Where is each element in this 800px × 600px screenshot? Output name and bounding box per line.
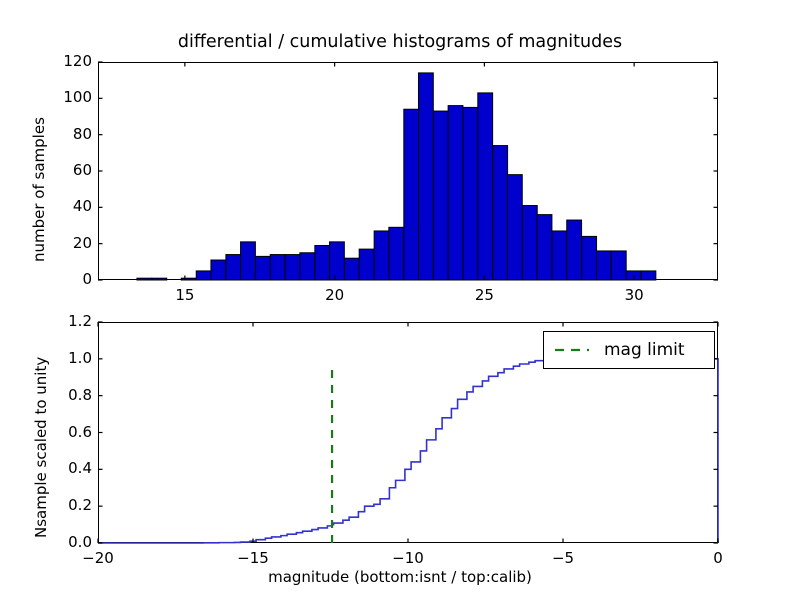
bottom-ytick-label: 1.0 — [32, 349, 92, 367]
top-ytick-label: 120 — [32, 52, 92, 70]
bottom-ytick-label: 0.6 — [32, 423, 92, 441]
bottom-ytick-label: 0.2 — [32, 496, 92, 514]
bottom-xtick-label: 0 — [693, 549, 743, 567]
legend-label-mag-limit: mag limit — [604, 340, 685, 360]
top-ytick-label: 20 — [32, 234, 92, 252]
legend-dashed-line-icon — [554, 344, 590, 356]
bottom-ytick-label: 0.0 — [32, 533, 92, 551]
top-xtick-label: 15 — [160, 286, 210, 304]
top-xtick-label: 30 — [609, 286, 659, 304]
bottom-ytick-label: 1.2 — [32, 312, 92, 330]
top-ytick-label: 100 — [32, 88, 92, 106]
cumulative-step-line — [98, 359, 718, 543]
bottom-xtick-label: −20 — [73, 549, 123, 567]
bottom-cumulative-plot — [0, 0, 800, 600]
top-ytick-label: 60 — [32, 161, 92, 179]
legend-box[interactable]: mag limit — [543, 331, 715, 369]
bottom-ytick-label: 0.4 — [32, 459, 92, 477]
top-ytick-label: 80 — [32, 125, 92, 143]
figure-canvas: differential / cumulative histograms of … — [0, 0, 800, 600]
bottom-xtick-label: −10 — [383, 549, 433, 567]
top-ytick-label: 40 — [32, 197, 92, 215]
bottom-xtick-label: −5 — [538, 549, 588, 567]
bottom-xtick-label: −15 — [228, 549, 278, 567]
top-ytick-label: 0 — [32, 270, 92, 288]
figure-xlabel: magnitude (bottom:isnt / top:calib) — [0, 568, 800, 586]
top-xtick-label: 20 — [310, 286, 360, 304]
top-xtick-label: 25 — [459, 286, 509, 304]
bottom-ytick-label: 0.8 — [32, 386, 92, 404]
